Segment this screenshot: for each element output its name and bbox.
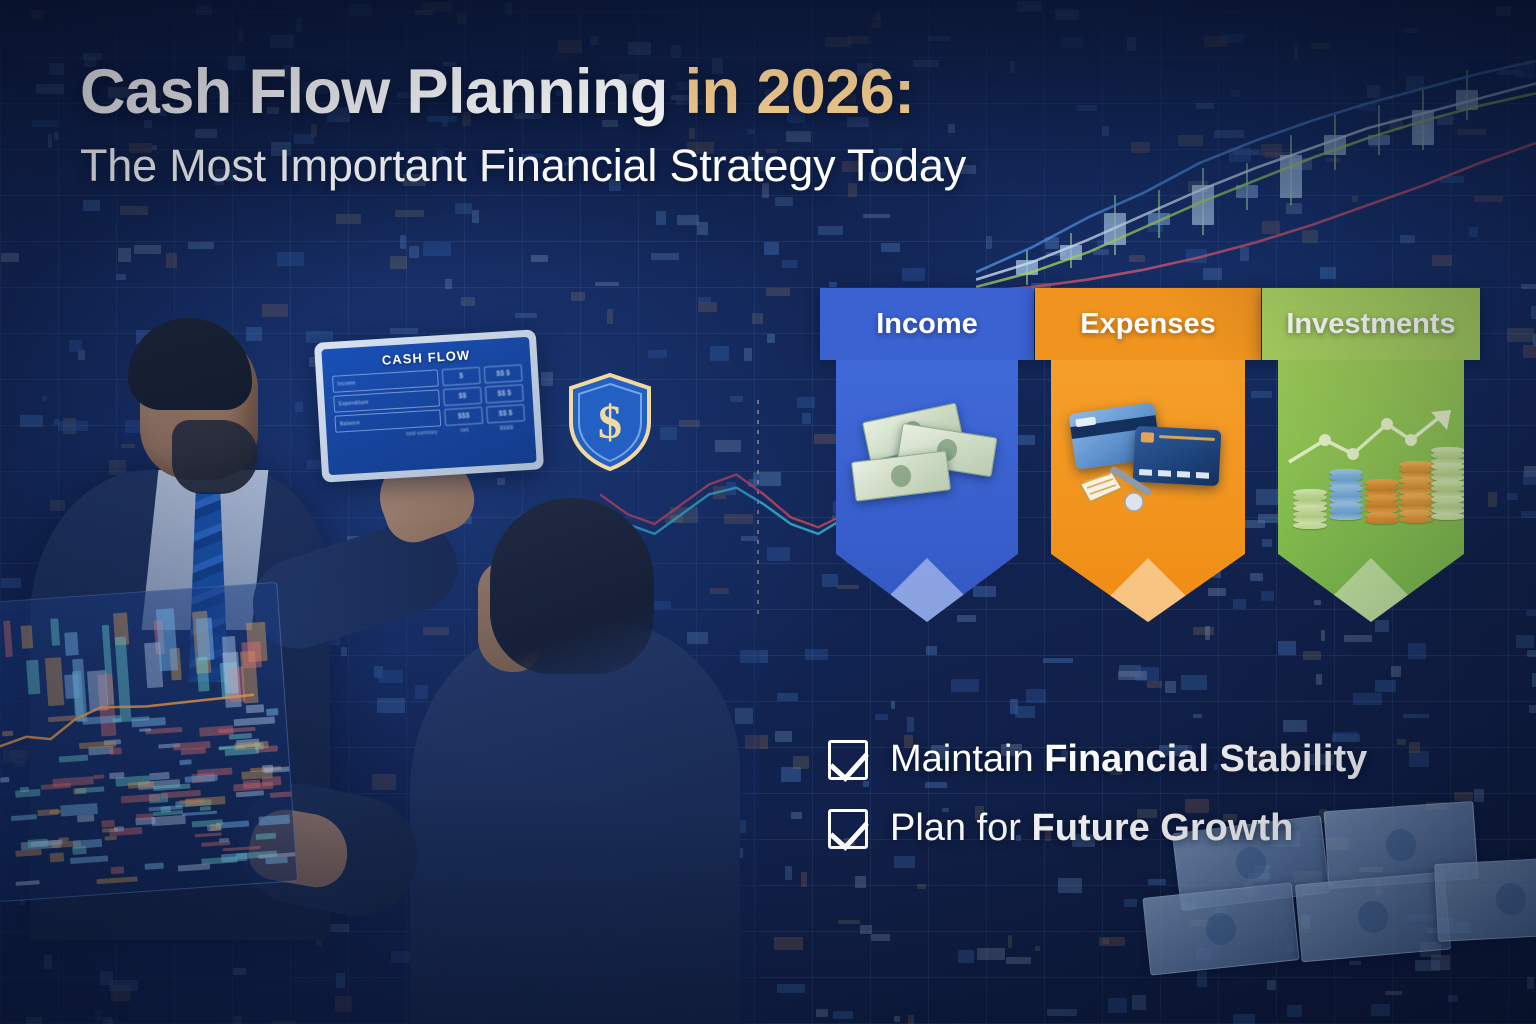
panel-expenses[interactable]: Expenses — [1035, 288, 1261, 622]
category-panels: Income Expenses — [820, 288, 1480, 688]
checklist-text: Plan for Future Growth — [890, 807, 1293, 850]
checklist-text: Maintain Financial Stability — [890, 738, 1367, 781]
tablet-cell: $ — [442, 367, 481, 386]
checklist-plain: Plan for — [890, 807, 1032, 849]
checklist-item[interactable]: Maintain Financial Stability — [828, 738, 1468, 781]
benefits-checklist: Maintain Financial Stability Plan for Fu… — [828, 738, 1468, 876]
tablet-screen: CASH FLOW Income $ $$ $ Expenditure $$ $… — [321, 337, 536, 475]
listener-head-back — [490, 498, 654, 674]
listener-suit — [410, 620, 740, 1024]
tablet-row-label-text: Balance — [340, 420, 361, 427]
bill — [1142, 882, 1299, 975]
coin-stack — [1399, 462, 1433, 536]
title-block: Cash Flow Planning in 2026: The Most Imp… — [80, 60, 1280, 190]
coin-stack — [1431, 448, 1465, 536]
tablet-row-label-text: Income — [337, 380, 356, 387]
title-accent-part: in 2026: — [685, 57, 915, 127]
tablet-cell: $$ $ — [485, 384, 524, 403]
checklist-bold: Future Growth — [1032, 807, 1294, 849]
security-shield-icon: $ — [566, 372, 654, 472]
tablet-cell: $$ — [443, 387, 482, 406]
bill — [1295, 872, 1451, 963]
tab-expenses[interactable]: Expenses — [1035, 288, 1261, 360]
cash-banknotes-icon — [847, 406, 1007, 516]
coin-stacks-growth-icon — [1281, 406, 1461, 536]
coin-stack — [1329, 470, 1363, 536]
page-subtitle: The Most Important Financial Strategy To… — [80, 142, 1280, 191]
price-tag-icon — [1076, 462, 1166, 514]
tablet-cell: $$$ — [444, 407, 483, 426]
checkbox-checked-icon[interactable] — [828, 809, 868, 849]
banner-expenses — [1051, 360, 1245, 622]
panel-investments[interactable]: Investments — [1262, 288, 1480, 622]
banner-income — [836, 360, 1018, 622]
title-white-part: Cash Flow Planning — [80, 57, 685, 127]
checklist-bold: Financial Stability — [1044, 738, 1367, 780]
up-arrow-icon-income — [867, 552, 987, 662]
tablet-footer-cell: $$$$ — [487, 424, 525, 432]
tab-income-label: Income — [876, 308, 978, 341]
cash-flow-tablet[interactable]: CASH FLOW Income $ $$ $ Expenditure $$ $… — [314, 329, 544, 482]
credit-cards-icon — [1058, 406, 1238, 526]
up-arrow-icon-investments — [1311, 552, 1431, 662]
page-title: Cash Flow Planning in 2026: — [80, 60, 1280, 126]
tab-income[interactable]: Income — [820, 288, 1034, 360]
trading-monitor-screen — [0, 582, 298, 902]
tablet-row-label-text: Expenditure — [339, 399, 369, 407]
tab-expenses-label: Expenses — [1080, 308, 1215, 341]
up-arrow-icon-expenses — [1088, 552, 1208, 662]
banner-investments — [1278, 360, 1464, 622]
tab-investments-label: Investments — [1286, 308, 1455, 341]
banknote — [851, 450, 951, 501]
tablet-cell: $$ $ — [484, 364, 523, 383]
tab-investments[interactable]: Investments — [1262, 288, 1480, 360]
coin-stack — [1365, 480, 1399, 536]
tablet-footer-cell: net — [445, 427, 483, 435]
panel-income[interactable]: Income — [820, 288, 1034, 622]
checklist-item[interactable]: Plan for Future Growth — [828, 807, 1468, 850]
tablet-cell: $$ $ — [486, 404, 525, 423]
coin-stack — [1293, 490, 1327, 536]
checklist-plain: Maintain — [890, 738, 1044, 780]
presenter-beard — [172, 420, 258, 494]
shield-dollar-symbol: $ — [598, 396, 622, 449]
checkbox-checked-icon[interactable] — [828, 740, 868, 780]
banner-canvas: CASH FLOW Income $ $$ $ Expenditure $$ $… — [0, 0, 1536, 1024]
